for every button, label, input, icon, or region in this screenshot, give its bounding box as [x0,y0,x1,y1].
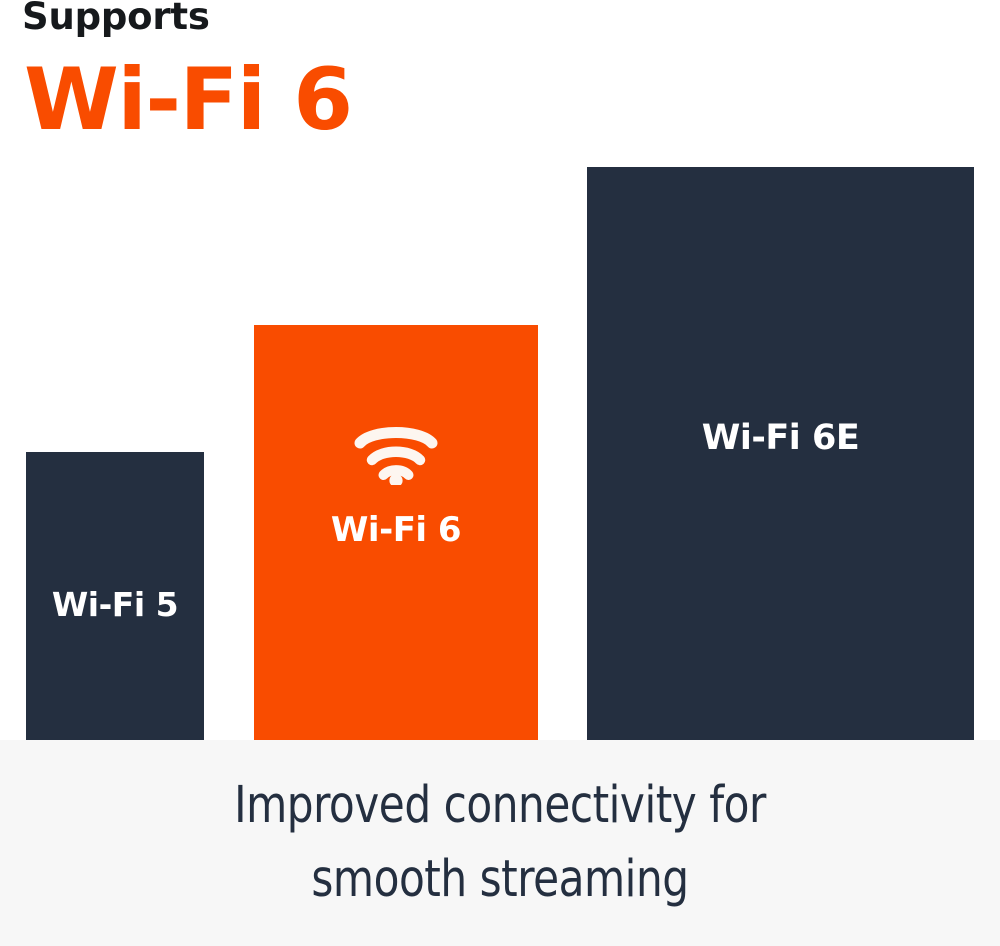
bar-wifi-6e-label: Wi-Fi 6E [587,418,974,458]
bar-wifi-6-content: Wi-Fi 6 [254,510,538,550]
caption-text: Improved connectivity for smooth streami… [95,769,905,917]
bar-wifi-5-label: Wi-Fi 5 [26,585,204,624]
caption-line-1: Improved connectivity for [95,769,905,843]
wifi-promo-graphic: Supports Wi-Fi 6 Wi-Fi 5 Wi- [0,0,1000,946]
bar-wifi-6-label: Wi-Fi 6 [254,510,538,550]
bar-wifi-6: Wi-Fi 6 [254,325,538,740]
bar-wifi-5: Wi-Fi 5 [26,452,204,740]
bar-wifi-6e-content: Wi-Fi 6E [587,418,974,458]
wifi-signal-icon [354,421,438,485]
caption-line-2: smooth streaming [95,843,905,917]
bar-wifi-6e: Wi-Fi 6E [587,167,974,740]
caption-band: Improved connectivity for smooth streami… [0,740,1000,946]
bar-wifi-5-content: Wi-Fi 5 [26,585,204,624]
bar-chart: Wi-Fi 5 Wi-Fi 6 Wi-Fi 6E [0,0,1000,740]
